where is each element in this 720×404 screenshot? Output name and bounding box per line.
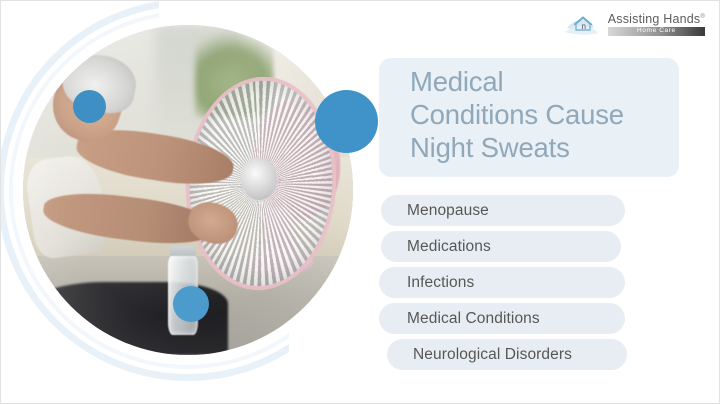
list-item[interactable]: Medications [379, 230, 679, 264]
infographic-canvas: n Assisting Hands® Home Care Medical Con… [0, 0, 720, 404]
svg-text:n: n [581, 22, 585, 31]
page-title-line-2: Conditions Cause [410, 98, 690, 131]
accent-circle-large-center [315, 90, 378, 153]
list-item[interactable]: Neurological Disorders [379, 338, 679, 372]
list-item-label: Infections [407, 266, 474, 300]
brand-wordmark: Assisting Hands® [608, 13, 705, 26]
registered-mark: ® [700, 14, 705, 20]
photo-composition [0, 0, 389, 404]
list-item[interactable]: Infections [379, 266, 679, 300]
page-title-line-1: Medical [410, 65, 690, 98]
list-item[interactable]: Medical Conditions [379, 302, 679, 336]
list-item-label: Neurological Disorders [413, 338, 572, 372]
brand-tagline: Home Care [608, 27, 705, 36]
accent-circle-bottom [173, 286, 209, 322]
brand-logo-text: Assisting Hands® Home Care [608, 13, 705, 37]
list-item-label: Medications [407, 230, 491, 264]
condition-list: Menopause Medications Infections Medical… [379, 194, 679, 374]
list-item-label: Medical Conditions [407, 302, 540, 336]
brand-logo[interactable]: n Assisting Hands® Home Care [563, 11, 705, 38]
house-hands-icon: n [563, 11, 603, 38]
accent-circle-small-left [73, 90, 106, 123]
brand-wordmark-text: Assisting Hands [608, 12, 701, 26]
list-item-label: Menopause [407, 194, 489, 228]
list-item[interactable]: Menopause [379, 194, 679, 228]
page-title-line-3: Night Sweats [410, 131, 690, 164]
page-title: Medical Conditions Cause Night Sweats [410, 65, 690, 164]
